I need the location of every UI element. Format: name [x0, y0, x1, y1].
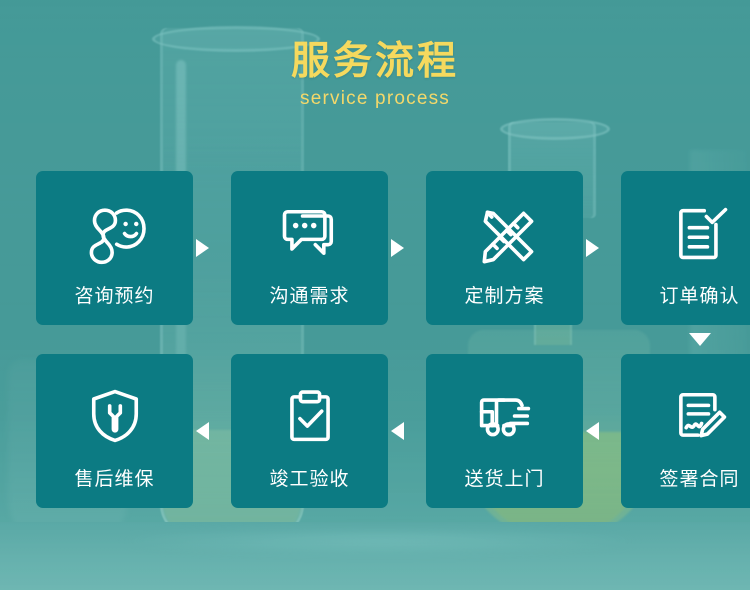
step-card-custom-plan[interactable]: 定制方案 [426, 171, 583, 325]
step-card-wrap-6: 送货上门 [426, 354, 583, 508]
banner-header: 服务流程 service process [0, 42, 750, 110]
banner-content: 服务流程 service process [0, 0, 750, 590]
arrow-right-icon [193, 171, 212, 325]
step-card-wrap-1: 咨询预约 [36, 171, 193, 325]
step-label: 竣工验收 [269, 464, 349, 491]
step-label: 沟通需求 [269, 281, 349, 308]
step-card-wrap-8: 售后维保 [36, 354, 193, 508]
arrow-down-icon [621, 325, 750, 354]
arrow-left-icon [388, 354, 407, 508]
step-label: 送货上门 [464, 464, 544, 491]
phone-smile-icon [79, 197, 151, 269]
process-row-bottom: 售后维保 [36, 354, 714, 508]
chat-bubbles-icon [274, 197, 346, 269]
step-card-delivery[interactable]: 送货上门 [426, 354, 583, 508]
process-steps-grid: 咨询预约 [36, 171, 714, 508]
arrow-right-icon [388, 171, 407, 325]
step-card-after-sales[interactable]: 售后维保 [36, 354, 193, 508]
pencil-ruler-icon [469, 197, 541, 269]
step-card-sign-contract[interactable]: 签署合同 [621, 354, 750, 508]
page-title: 服务流程 [0, 42, 750, 83]
document-check-icon [664, 197, 736, 269]
step-label: 定制方案 [464, 281, 544, 308]
page-subtitle: service process [0, 88, 750, 110]
delivery-truck-icon [469, 380, 541, 452]
step-card-wrap-4: 订单确认 [621, 171, 750, 325]
step-card-order-confirm[interactable]: 订单确认 [621, 171, 750, 325]
step-card-communication[interactable]: 沟通需求 [231, 171, 388, 325]
step-card-acceptance[interactable]: 竣工验收 [231, 354, 388, 508]
step-label: 签署合同 [659, 464, 739, 491]
step-card-wrap-7: 竣工验收 [231, 354, 388, 508]
step-label: 咨询预约 [74, 281, 154, 308]
process-row-top: 咨询预约 [36, 171, 714, 325]
step-card-wrap-3: 定制方案 [426, 171, 583, 325]
shield-wrench-icon [79, 380, 151, 452]
step-label: 售后维保 [74, 464, 154, 491]
arrow-left-icon [193, 354, 212, 508]
contract-pen-icon [664, 380, 736, 452]
step-label: 订单确认 [659, 281, 739, 308]
step-card-consultation[interactable]: 咨询预约 [36, 171, 193, 325]
arrow-right-icon [583, 171, 602, 325]
step-card-wrap-5: 签署合同 [621, 354, 750, 508]
service-process-banner: 服务流程 service process [0, 0, 750, 590]
clipboard-check-icon [274, 380, 346, 452]
step-card-wrap-2: 沟通需求 [231, 171, 388, 325]
arrow-left-icon [583, 354, 602, 508]
